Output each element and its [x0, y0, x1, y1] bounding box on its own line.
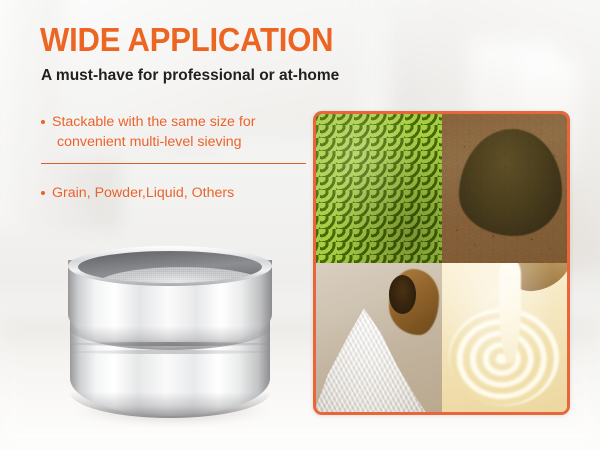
- wooden-spoon-bowl: [389, 275, 417, 314]
- sieve-interior-wall: [78, 251, 262, 283]
- page-subtitle: A must-have for professional or at-home: [41, 66, 339, 85]
- bullet-text-1: Stackable with the same size for conveni…: [41, 112, 311, 152]
- application-image-grid: [313, 111, 570, 415]
- grid-cell-cream-liquid-pour: [442, 263, 568, 412]
- cream-highlight: [442, 263, 568, 412]
- bullet-1-line-1: Stackable with the same size for: [52, 114, 255, 130]
- beans-shading: [316, 114, 442, 263]
- grid-cell-brown-spice-powder: [442, 114, 568, 263]
- grid-cell-green-mung-beans: [316, 114, 442, 263]
- bullet-dot-icon: [41, 191, 45, 195]
- sieve-seam-2: [70, 350, 270, 354]
- banner-stage: WIDE APPLICATION A must-have for profess…: [0, 0, 600, 450]
- product-image-stacked-sieves: [66, 246, 276, 424]
- bullet-dot-icon: [41, 120, 45, 124]
- feature-bullet-1: Stackable with the same size for conveni…: [41, 112, 311, 152]
- bullet-2-line-1: Grain, Powder,Liquid, Others: [52, 185, 234, 201]
- sieve-seam-1: [70, 342, 270, 346]
- grid-cell-white-flour-pile: [316, 263, 442, 412]
- bullet-1-line-2: convenient multi-level sieving: [52, 132, 311, 152]
- feature-bullet-2: Grain, Powder,Liquid, Others: [41, 183, 311, 203]
- spice-scattered-specks: [442, 114, 568, 263]
- page-title: WIDE APPLICATION: [40, 22, 333, 58]
- section-divider: [41, 163, 306, 164]
- bullet-text-2: Grain, Powder,Liquid, Others: [41, 183, 311, 203]
